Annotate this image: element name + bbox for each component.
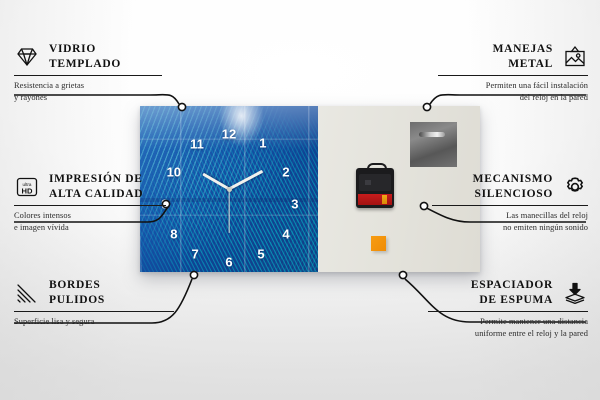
clock-second-hand	[228, 189, 229, 233]
mechanism-detail	[365, 180, 371, 185]
callout-title-line2: SILENCIOSO	[473, 187, 553, 202]
clock-hour-hand	[202, 173, 229, 191]
metal-hanger-plate-icon	[410, 122, 457, 167]
callout-bordes-pulidos[interactable]: BORDES PULIDOS Superficie lisa y segura	[14, 278, 174, 328]
callout-vidrio-templado[interactable]: VIDRIO TEMPLADO Resistencia a grietas y …	[14, 42, 162, 104]
clock-number-5: 5	[257, 247, 264, 260]
callout-title-line1: VIDRIO	[49, 42, 121, 57]
callout-desc-line1: Resistencia a grietas	[14, 80, 162, 92]
clock-number-12: 12	[222, 128, 236, 141]
callout-divider	[428, 311, 588, 312]
callout-title-line1: MANEJAS	[493, 42, 553, 57]
quartz-mechanism	[356, 168, 394, 208]
callout-desc-line1: Superficie lisa y segura	[14, 316, 174, 328]
clock-number-7: 7	[192, 247, 199, 260]
clock-number-3: 3	[291, 197, 298, 210]
callout-description: Colores intensos e imagen vívida	[14, 210, 166, 234]
callout-description: Superficie lisa y segura	[14, 316, 174, 328]
callout-divider	[438, 75, 588, 76]
mechanism-hook	[367, 163, 387, 173]
callout-title: ESPACIADOR DE ESPUMA	[471, 278, 553, 307]
callout-mecanismo-silencioso[interactable]: MECANISMO SILENCIOSO Las manecillas del …	[432, 172, 588, 234]
polished-edges-icon	[14, 281, 40, 305]
callout-desc-line2: no emiten ningún sonido	[432, 222, 588, 234]
callout-description: Permiten una fácil instalación del reloj…	[438, 80, 588, 104]
callout-title-line2: TEMPLADO	[49, 57, 121, 72]
clock-number-10: 10	[167, 166, 181, 179]
connector-dot-espuma	[399, 271, 406, 278]
callout-title-line1: BORDES	[49, 278, 105, 293]
callout-title: MANEJAS METAL	[493, 42, 553, 71]
callout-description: Resistencia a grietas y rayones	[14, 80, 162, 104]
clock-number-1: 1	[259, 136, 266, 149]
callout-manejas-metal[interactable]: MANEJAS METAL Permiten una fácil instala…	[438, 42, 588, 104]
callout-title-line1: ESPACIADOR	[471, 278, 553, 293]
callout-espaciador-de-espuma[interactable]: ESPACIADOR DE ESPUMA Permite mantener un…	[428, 278, 588, 340]
diamond-icon	[14, 45, 40, 69]
callout-title: BORDES PULIDOS	[49, 278, 105, 307]
callout-desc-line2: y rayones	[14, 92, 162, 104]
callout-desc-line1: Las manecillas del reloj	[432, 210, 588, 222]
svg-text:HD: HD	[22, 186, 33, 195]
infographic-canvas: 12 1 2 3 4 5 6 7 8 9 10 11	[0, 0, 600, 400]
callout-desc-line1: Colores intensos	[14, 210, 166, 222]
framed-picture-hanging-icon	[562, 45, 588, 69]
ultra-hd-icon: ultra HD	[14, 175, 40, 199]
clock-number-4: 4	[282, 227, 289, 240]
clock-number-11: 11	[190, 138, 204, 151]
callout-title-line2: PULIDOS	[49, 293, 105, 308]
mechanism-battery-label	[358, 194, 392, 205]
callout-divider	[432, 205, 588, 206]
callout-divider	[14, 75, 162, 76]
connector-dot-bordes	[190, 271, 197, 278]
clock-minute-hand	[228, 170, 263, 190]
callout-title-line1: IMPRESIÓN DE	[49, 172, 143, 187]
callout-desc-line2: del reloj en la pared	[438, 92, 588, 104]
clock-center-cap	[227, 187, 232, 192]
callout-divider	[14, 311, 174, 312]
clock-number-6: 6	[225, 256, 232, 269]
callout-title: MECANISMO SILENCIOSO	[473, 172, 553, 201]
callout-title: VIDRIO TEMPLADO	[49, 42, 121, 71]
callout-desc-line2: e imagen vívida	[14, 222, 166, 234]
callout-desc-line1: Permiten una fácil instalación	[438, 80, 588, 92]
callout-description: Las manecillas del reloj no emiten ningú…	[432, 210, 588, 234]
callout-title-line1: MECANISMO	[473, 172, 553, 187]
hanger-slot	[419, 132, 445, 137]
clock-dial: 12 1 2 3 4 5 6 7 8 9 10 11	[140, 106, 318, 272]
clock-front-panel: 12 1 2 3 4 5 6 7 8 9 10 11	[140, 106, 318, 272]
callout-title-line2: DE ESPUMA	[471, 293, 553, 308]
callout-title-line2: ALTA CALIDAD	[49, 187, 143, 202]
callout-divider	[14, 205, 166, 206]
mechanism-body	[359, 174, 391, 191]
clock-number-8: 8	[170, 227, 177, 240]
callout-impresion-alta-calidad[interactable]: ultra HD IMPRESIÓN DE ALTA CALIDAD Color…	[14, 172, 166, 234]
clock-number-2: 2	[282, 166, 289, 179]
callout-desc-line1: Permite mantener una distancia	[428, 316, 588, 328]
foam-spacer-square	[371, 236, 386, 251]
callout-desc-line2: uniforme entre el reloj y la pared	[428, 328, 588, 340]
gear-icon	[562, 175, 588, 199]
product-image: 12 1 2 3 4 5 6 7 8 9 10 11	[140, 106, 480, 272]
callout-title: IMPRESIÓN DE ALTA CALIDAD	[49, 172, 143, 201]
callout-title-line2: METAL	[493, 57, 553, 72]
arrow-down-layers-icon	[562, 281, 588, 305]
callout-description: Permite mantener una distancia uniforme …	[428, 316, 588, 340]
